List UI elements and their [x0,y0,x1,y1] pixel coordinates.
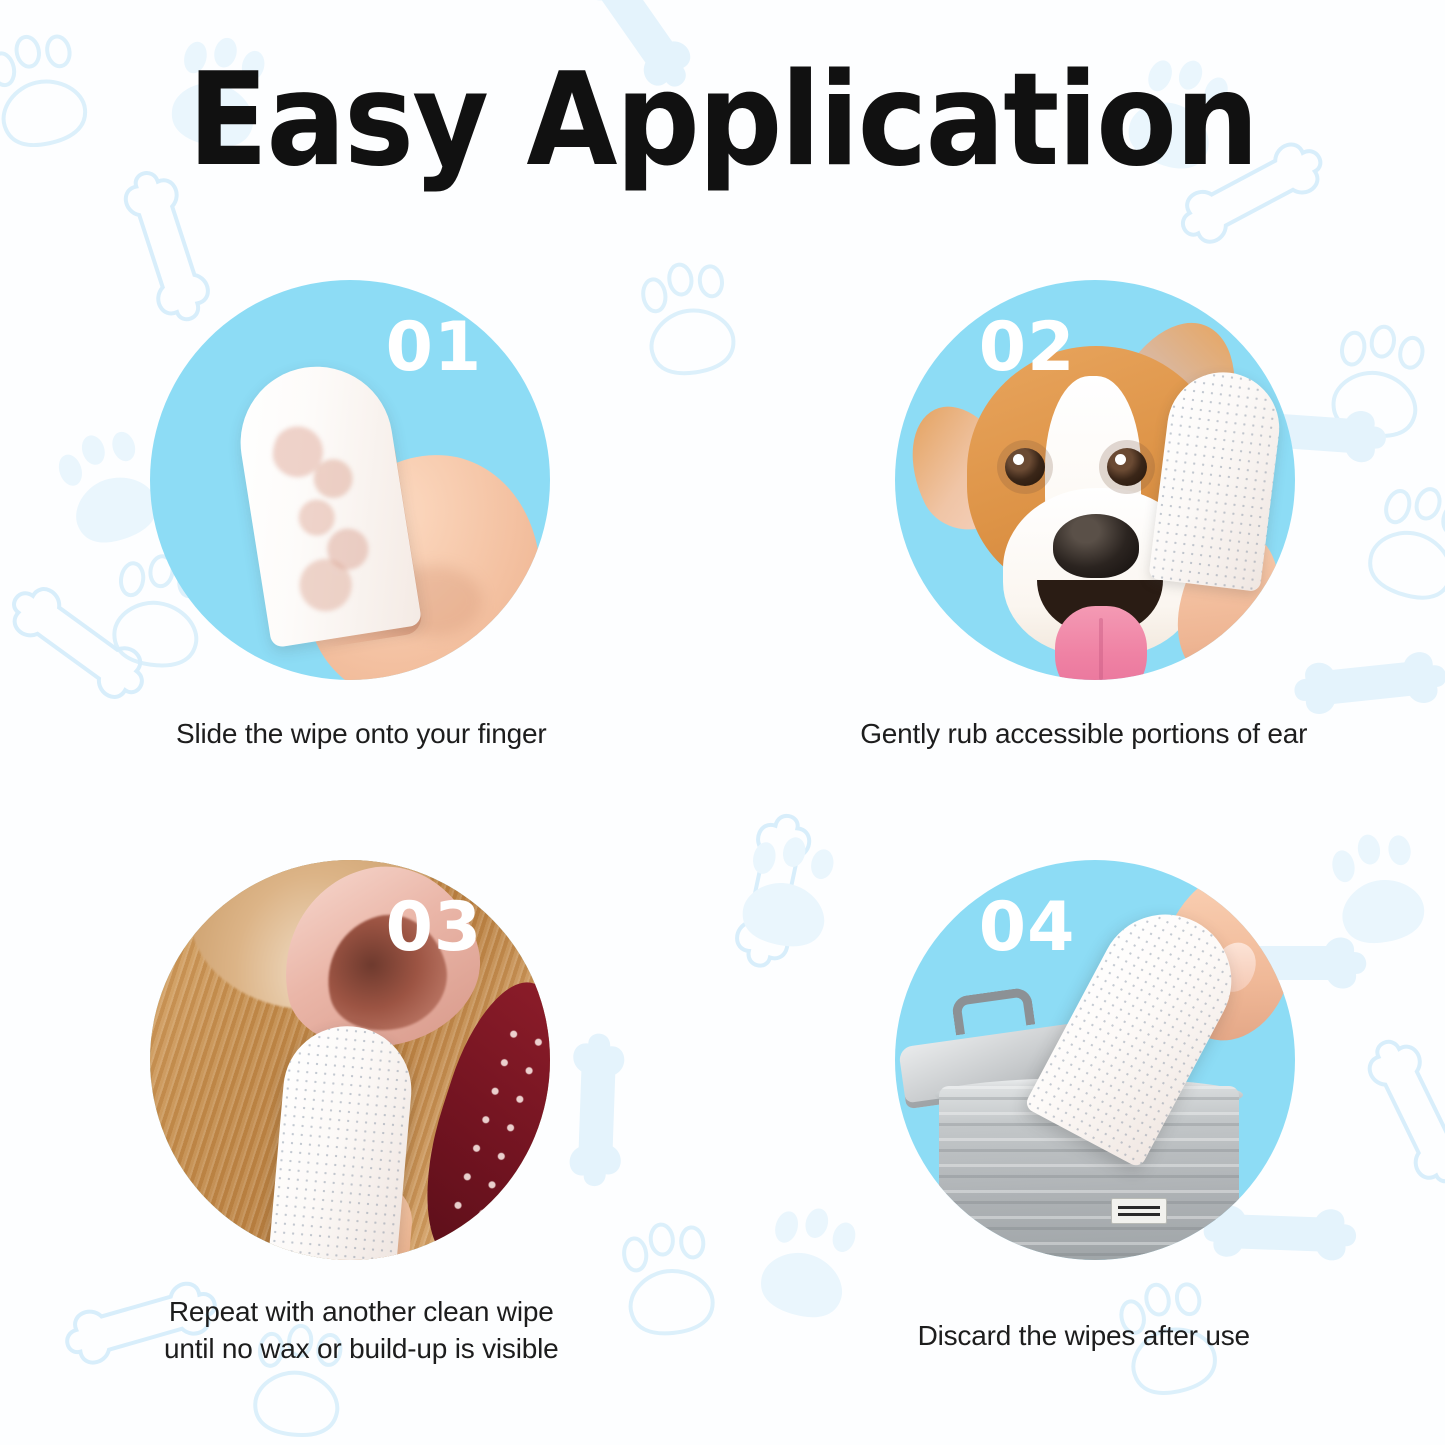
step-image-04: 04 [895,860,1295,1260]
trash-can-illustration [895,860,1295,1260]
step-card-04: 04 Discard the wipes after use [723,860,1445,1440]
dog-tongue [1055,606,1147,680]
easy-application-infographic: Easy Application 01 Slide the wipe onto … [0,0,1445,1445]
step-number-badge-01: 01 [386,314,483,382]
trash-lid-handle [950,987,1035,1036]
step-circle-03 [150,860,550,1260]
wipe-mitt-illustration [230,356,423,648]
dog-nose [1053,514,1139,578]
step-number-badge-03: 03 [386,894,483,962]
corgi-illustration [895,280,1295,680]
step-circle-01 [150,280,550,680]
wipe-texture [267,407,383,618]
dog-left-eye [1005,448,1045,486]
step-card-03: 03 Repeat with another clean wipe until … [0,860,723,1440]
step-caption-02: Gently rub accessible portions of ear [860,716,1307,753]
step-card-02: 02 Gently rub accessible portions of ear [723,280,1445,860]
dog-right-eye [1107,448,1147,486]
step-number-badge-04: 04 [979,894,1076,962]
wipe-texture [268,1021,417,1260]
wipe-mitt-illustration [268,1021,417,1260]
step-circle-02 [895,280,1295,680]
step-number-badge-02: 02 [979,314,1076,382]
step-card-01: 01 Slide the wipe onto your finger [0,280,723,860]
step-image-01: 01 [150,280,550,680]
trash-can-label [1111,1198,1167,1224]
step-caption-03: Repeat with another clean wipe until no … [164,1294,559,1368]
page-title: Easy Application [58,56,1387,187]
step-caption-01: Slide the wipe onto your finger [176,716,546,753]
step-image-02: 02 [895,280,1295,680]
step-caption-04: Discard the wipes after use [918,1318,1250,1355]
step-circle-04 [895,860,1295,1260]
dog-ear-closeup-illustration [150,860,550,1260]
step-image-03: 03 [150,860,550,1260]
steps-grid: 01 Slide the wipe onto your finger [0,280,1445,1440]
